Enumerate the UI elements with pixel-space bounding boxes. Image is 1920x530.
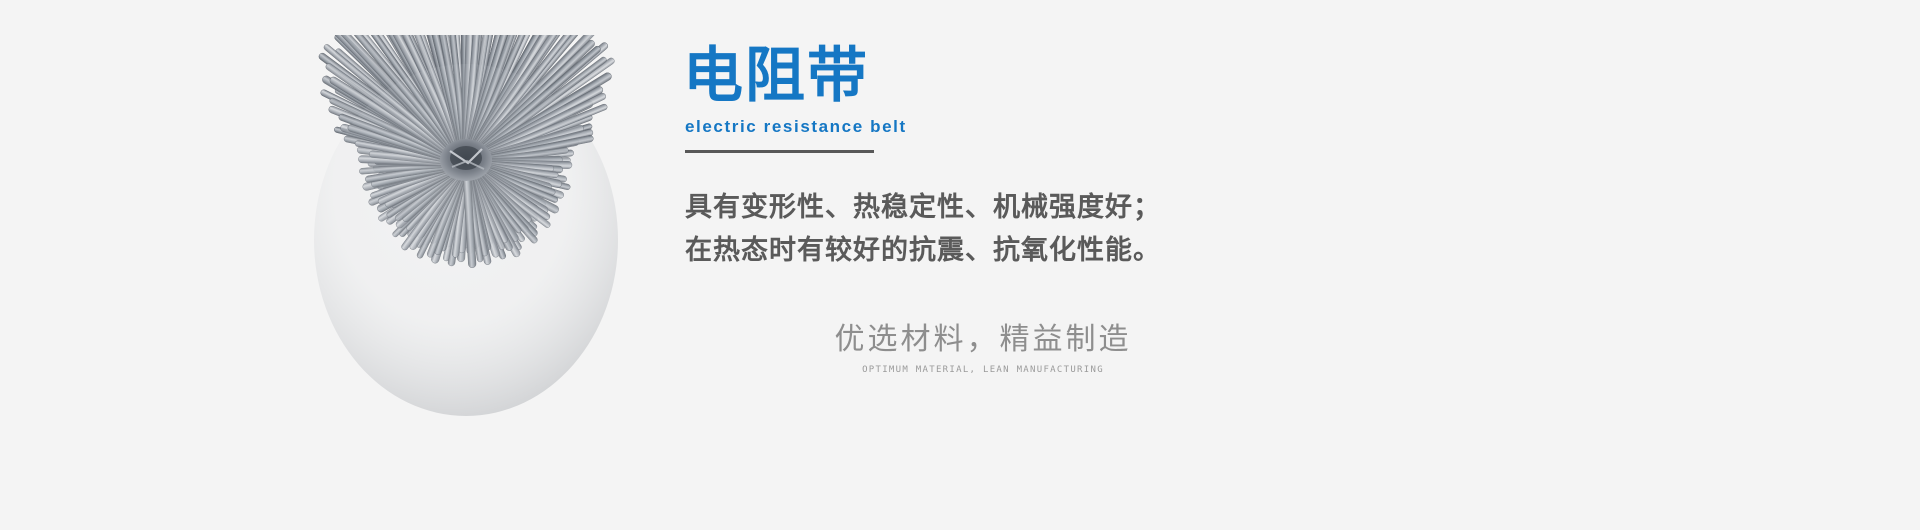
page-subtitle: electric resistance belt [685, 117, 907, 137]
slogan-chinese: 优选材料，精益制造 [773, 320, 1193, 360]
product-image [300, 35, 645, 495]
product-banner: 电阻带 electric resistance belt 具有变形性、热稳定性、… [0, 0, 1920, 530]
coil-core [440, 139, 492, 181]
title-divider [685, 150, 874, 153]
product-description: 具有变形性、热稳定性、机械强度好； 在热态时有较好的抗震、抗氧化性能。 [685, 186, 1385, 272]
brand-slogan: 优选材料，精益制造 OPTIMUM MATERIAL, LEAN MANUFAC… [773, 320, 1193, 376]
slogan-english: OPTIMUM MATERIAL, LEAN MANUFACTURING [773, 364, 1193, 376]
description-line-2: 在热态时有较好的抗震、抗氧化性能。 [685, 229, 1385, 272]
coil-shading [314, 64, 618, 416]
page-title: 电阻带 [683, 44, 869, 108]
starburst-svg [300, 35, 645, 495]
description-line-1: 具有变形性、热稳定性、机械强度好； [685, 186, 1385, 229]
banner-text-column: 电阻带 electric resistance belt 具有变形性、热稳定性、… [683, 0, 1583, 530]
resistance-belt-coil-illustration [300, 35, 645, 495]
